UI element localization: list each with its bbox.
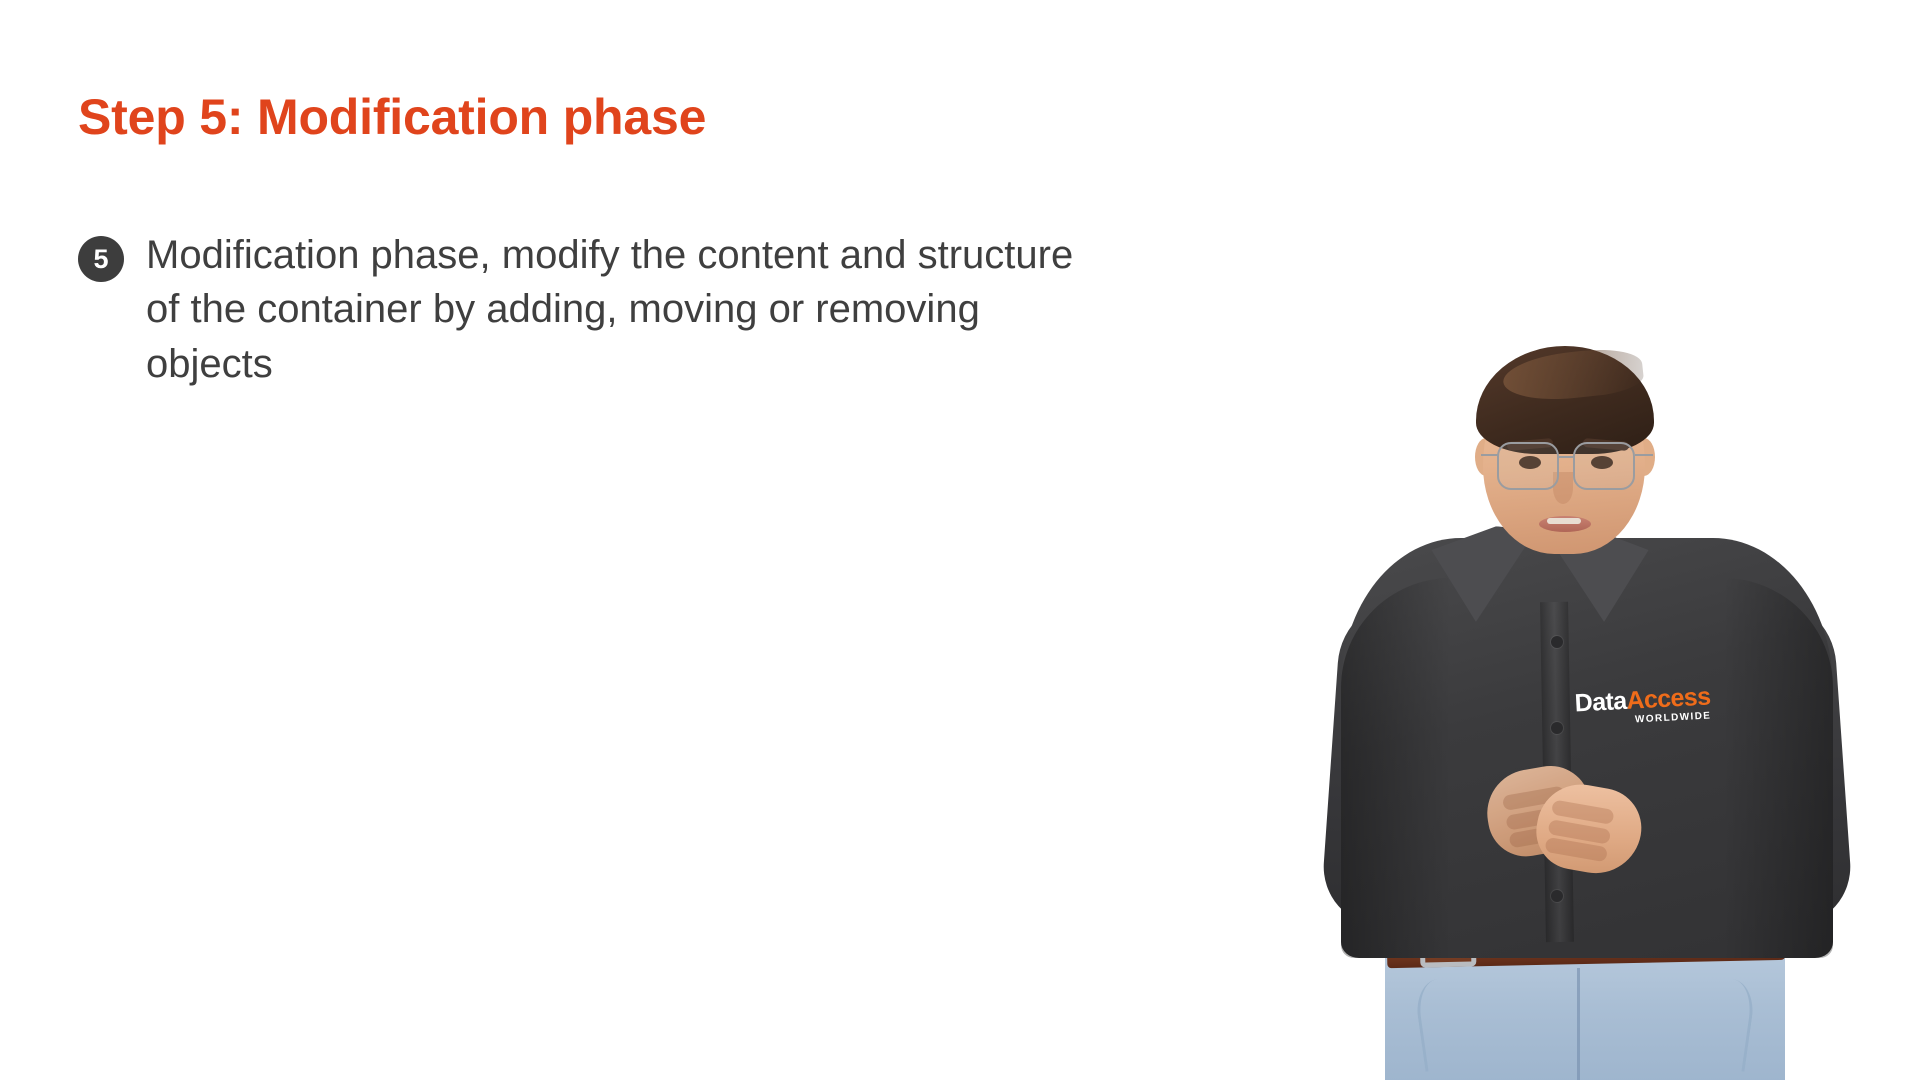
shirt-button — [1551, 636, 1563, 648]
bullet-number-badge: 5 — [78, 236, 124, 282]
glasses-lens-left — [1497, 442, 1559, 490]
data-access-worldwide-logo: DataAccess WORLDWIDE — [1574, 684, 1712, 728]
page-title: Step 5: Modification phase — [78, 88, 706, 146]
bullet-text: Modification phase, modify the content a… — [146, 228, 1106, 391]
jeans-pocket-left — [1413, 974, 1485, 1071]
logo-word-access: Access — [1626, 682, 1711, 714]
glasses-temple-right — [1635, 454, 1653, 456]
shirt — [1341, 538, 1833, 958]
glasses-lens-right — [1573, 442, 1635, 490]
shirt-shadow-right — [1723, 578, 1833, 958]
jeans-pocket-right — [1685, 974, 1757, 1071]
glasses-bridge — [1559, 456, 1573, 458]
list-item: 5 Modification phase, modify the content… — [78, 228, 1108, 391]
clasped-hands — [1483, 760, 1651, 892]
presenter-video-overlay: DataAccess WORLDWIDE — [1245, 330, 1920, 1080]
teeth — [1547, 518, 1581, 524]
shirt-button — [1551, 722, 1563, 734]
bullet-list: 5 Modification phase, modify the content… — [78, 228, 1108, 391]
logo-word-data: Data — [1574, 687, 1627, 718]
slide-canvas: Step 5: Modification phase 5 Modificatio… — [0, 0, 1920, 1080]
shirt-shadow-left — [1341, 578, 1451, 958]
